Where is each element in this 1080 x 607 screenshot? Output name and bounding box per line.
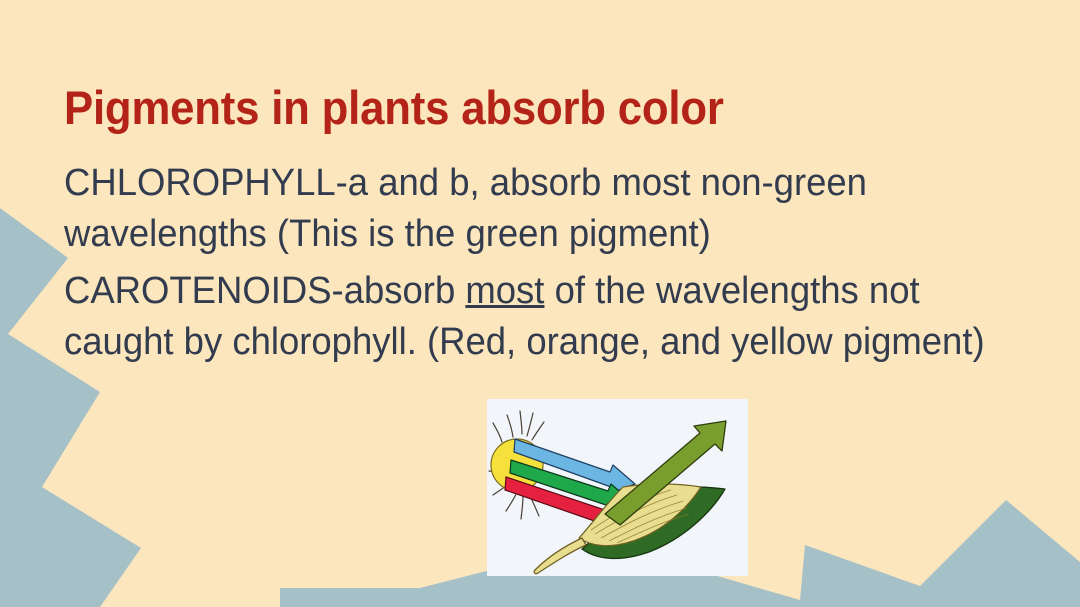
paragraph-carotenoids: CAROTENOIDS-absorb most of the wavelengt… — [64, 266, 988, 368]
paragraph-chlorophyll-text: CHLOROPHYLL-a and b, absorb most non-gre… — [64, 162, 867, 255]
body-text-block: CHLOROPHYLL-a and b, absorb most non-gre… — [64, 158, 988, 368]
paragraph-chlorophyll: CHLOROPHYLL-a and b, absorb most non-gre… — [64, 158, 988, 260]
paragraph-carotenoids-text-lead: CAROTENOIDS-absorb — [64, 270, 465, 312]
sunlight-absorption-leaf-figure — [487, 399, 748, 576]
slide: Pigments in plants absorb color CHLOROPH… — [0, 0, 1080, 607]
leaf-diagram-svg — [487, 399, 748, 576]
paragraph-carotenoids-emphasis-most: most — [465, 270, 544, 312]
page-title: Pigments in plants absorb color — [64, 83, 938, 132]
